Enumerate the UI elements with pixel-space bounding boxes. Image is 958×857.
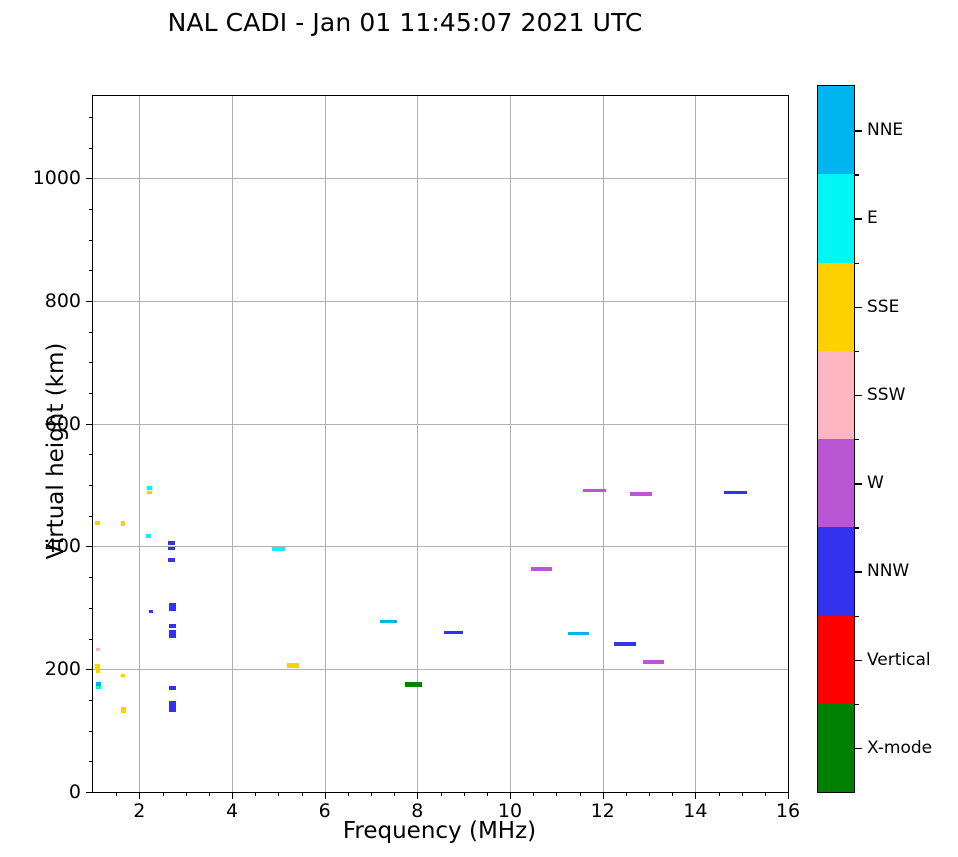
colorbar-label-ssw: SSW: [867, 385, 905, 405]
colorbar-tick: [854, 130, 862, 131]
colorbar-boundary-tick: [854, 439, 859, 440]
colorbar-tick: [854, 483, 862, 484]
colorbar-segment-w: [818, 439, 854, 527]
gridline-vertical: [695, 96, 696, 792]
x-axis-minor-tick: [649, 792, 650, 796]
colorbar-boundary-tick: [854, 263, 859, 264]
echo-mark: [444, 631, 463, 635]
gridline-horizontal: [93, 669, 788, 670]
colorbar-tick: [854, 218, 862, 219]
x-axis-minor-tick: [186, 792, 187, 796]
colorbar: NNEESSESSWWNNWVerticalX-mode: [817, 85, 855, 793]
y-axis-minor-tick: [89, 485, 93, 486]
echo-mark: [149, 610, 152, 614]
y-axis-tick-label: 0: [69, 781, 81, 803]
x-axis-minor-tick: [533, 792, 534, 796]
echo-mark: [568, 632, 588, 636]
gridline-vertical: [603, 96, 604, 792]
x-axis-tick: [232, 792, 233, 799]
y-axis-tick: [86, 546, 93, 547]
plot-area: 24681012141602004006008001000: [92, 95, 789, 793]
colorbar-label-sse: SSE: [867, 297, 899, 317]
colorbar-segment-e: [818, 174, 854, 262]
y-axis-minor-tick: [89, 332, 93, 333]
y-axis-tick: [86, 178, 93, 179]
echo-mark: [121, 707, 126, 713]
gridline-horizontal: [93, 424, 788, 425]
echo-mark: [147, 491, 153, 495]
echo-mark: [272, 547, 285, 551]
echo-mark: [405, 682, 422, 686]
x-axis-minor-tick: [580, 792, 581, 796]
x-axis-minor-tick: [719, 792, 720, 796]
x-axis-tick: [788, 792, 789, 799]
page-title: NAL CADI - Jan 01 11:45:07 2021 UTC: [0, 8, 810, 37]
echo-mark: [96, 670, 100, 673]
x-axis-tick: [139, 792, 140, 799]
gridline-vertical: [417, 96, 418, 792]
x-axis-minor-tick: [464, 792, 465, 796]
plot-canvas: [93, 96, 788, 792]
y-axis-minor-tick: [89, 608, 93, 609]
y-axis-minor-tick: [89, 362, 93, 363]
colorbar-segment-nnw: [818, 527, 854, 615]
colorbar-boundary-tick: [854, 351, 859, 352]
colorbar-boundary-tick: [854, 174, 859, 175]
x-axis-minor-tick: [487, 792, 488, 796]
colorbar-tick: [854, 571, 862, 572]
y-axis-minor-tick: [89, 577, 93, 578]
gridline-vertical: [325, 96, 326, 792]
echo-mark: [643, 660, 664, 664]
y-axis-minor-tick: [89, 209, 93, 210]
y-axis-tick: [86, 301, 93, 302]
x-axis-minor-tick: [371, 792, 372, 796]
x-axis-minor-tick: [441, 792, 442, 796]
echo-mark: [614, 642, 635, 646]
colorbar-label-w: W: [867, 473, 884, 493]
y-axis-minor-tick: [89, 148, 93, 149]
colorbar-boundary-tick: [854, 704, 859, 705]
echo-mark: [96, 686, 101, 689]
gridline-vertical: [510, 96, 511, 792]
gridline-vertical: [232, 96, 233, 792]
x-axis-minor-tick: [765, 792, 766, 796]
x-axis-minor-tick: [116, 792, 117, 796]
echo-mark: [121, 674, 126, 677]
colorbar-tick: [854, 307, 862, 308]
echo-mark: [531, 567, 551, 571]
x-axis-minor-tick: [348, 792, 349, 796]
x-axis-minor-tick: [209, 792, 210, 796]
x-axis-minor-tick: [302, 792, 303, 796]
x-axis-minor-tick: [278, 792, 279, 796]
colorbar-label-nne: NNE: [867, 120, 903, 140]
echo-mark: [168, 558, 175, 562]
y-axis-tick: [86, 669, 93, 670]
echo-mark: [147, 486, 153, 490]
echo-mark: [168, 547, 175, 550]
x-axis-tick: [325, 792, 326, 799]
colorbar-segment-vertical: [818, 616, 854, 704]
y-axis-tick: [86, 792, 93, 793]
colorbar-boundary-tick: [854, 527, 859, 528]
echo-mark: [95, 521, 100, 525]
x-axis-minor-tick: [394, 792, 395, 796]
y-axis-minor-tick: [89, 700, 93, 701]
colorbar-label-e: E: [867, 208, 878, 228]
echo-mark: [146, 534, 151, 538]
echo-mark: [583, 489, 606, 493]
gridline-horizontal: [93, 301, 788, 302]
colorbar-label-vertical: Vertical: [867, 650, 931, 670]
colorbar-segment-x-mode: [818, 704, 854, 792]
x-axis-tick: [695, 792, 696, 799]
colorbar-segment-nne: [818, 86, 854, 174]
x-axis-tick: [417, 792, 418, 799]
x-axis-minor-tick: [626, 792, 627, 796]
y-axis-minor-tick: [89, 761, 93, 762]
gridline-vertical: [139, 96, 140, 792]
y-axis-minor-tick: [89, 516, 93, 517]
y-axis-minor-tick: [89, 240, 93, 241]
echo-mark: [630, 492, 652, 496]
y-axis-minor-tick: [89, 639, 93, 640]
gridline-horizontal: [93, 178, 788, 179]
y-axis-minor-tick: [89, 731, 93, 732]
echo-mark: [380, 620, 397, 624]
x-axis-tick: [603, 792, 604, 799]
echo-mark: [724, 491, 747, 495]
colorbar-tick: [854, 395, 862, 396]
echo-mark: [121, 521, 126, 526]
colorbar-label-nnw: NNW: [867, 561, 909, 581]
colorbar-segment-ssw: [818, 351, 854, 439]
y-axis-minor-tick: [89, 270, 93, 271]
echo-mark: [169, 630, 175, 638]
x-axis-label: Frequency (MHz): [92, 818, 787, 844]
x-axis-minor-tick: [556, 792, 557, 796]
echo-mark: [287, 663, 299, 667]
echo-mark: [169, 603, 175, 611]
colorbar-label-x-mode: X-mode: [867, 738, 932, 758]
y-axis-minor-tick: [89, 117, 93, 118]
y-axis-tick: [86, 424, 93, 425]
y-axis-minor-tick: [89, 454, 93, 455]
colorbar-segment-sse: [818, 263, 854, 351]
colorbar-tick: [854, 748, 862, 749]
y-axis-label: Virtual height (km): [43, 103, 69, 799]
x-axis-minor-tick: [672, 792, 673, 796]
echo-mark: [169, 686, 176, 690]
echo-mark: [169, 624, 176, 628]
colorbar-boundary-tick: [854, 616, 859, 617]
echo-mark: [96, 648, 100, 652]
gridline-horizontal: [93, 546, 788, 547]
x-axis-minor-tick: [163, 792, 164, 796]
colorbar-tick: [854, 660, 862, 661]
x-axis-tick: [510, 792, 511, 799]
x-axis-minor-tick: [742, 792, 743, 796]
y-axis-minor-tick: [89, 393, 93, 394]
x-axis-minor-tick: [255, 792, 256, 796]
echo-mark: [168, 541, 175, 545]
ionogram-figure: NAL CADI - Jan 01 11:45:07 2021 UTC 2468…: [0, 0, 958, 857]
echo-mark: [169, 701, 175, 712]
